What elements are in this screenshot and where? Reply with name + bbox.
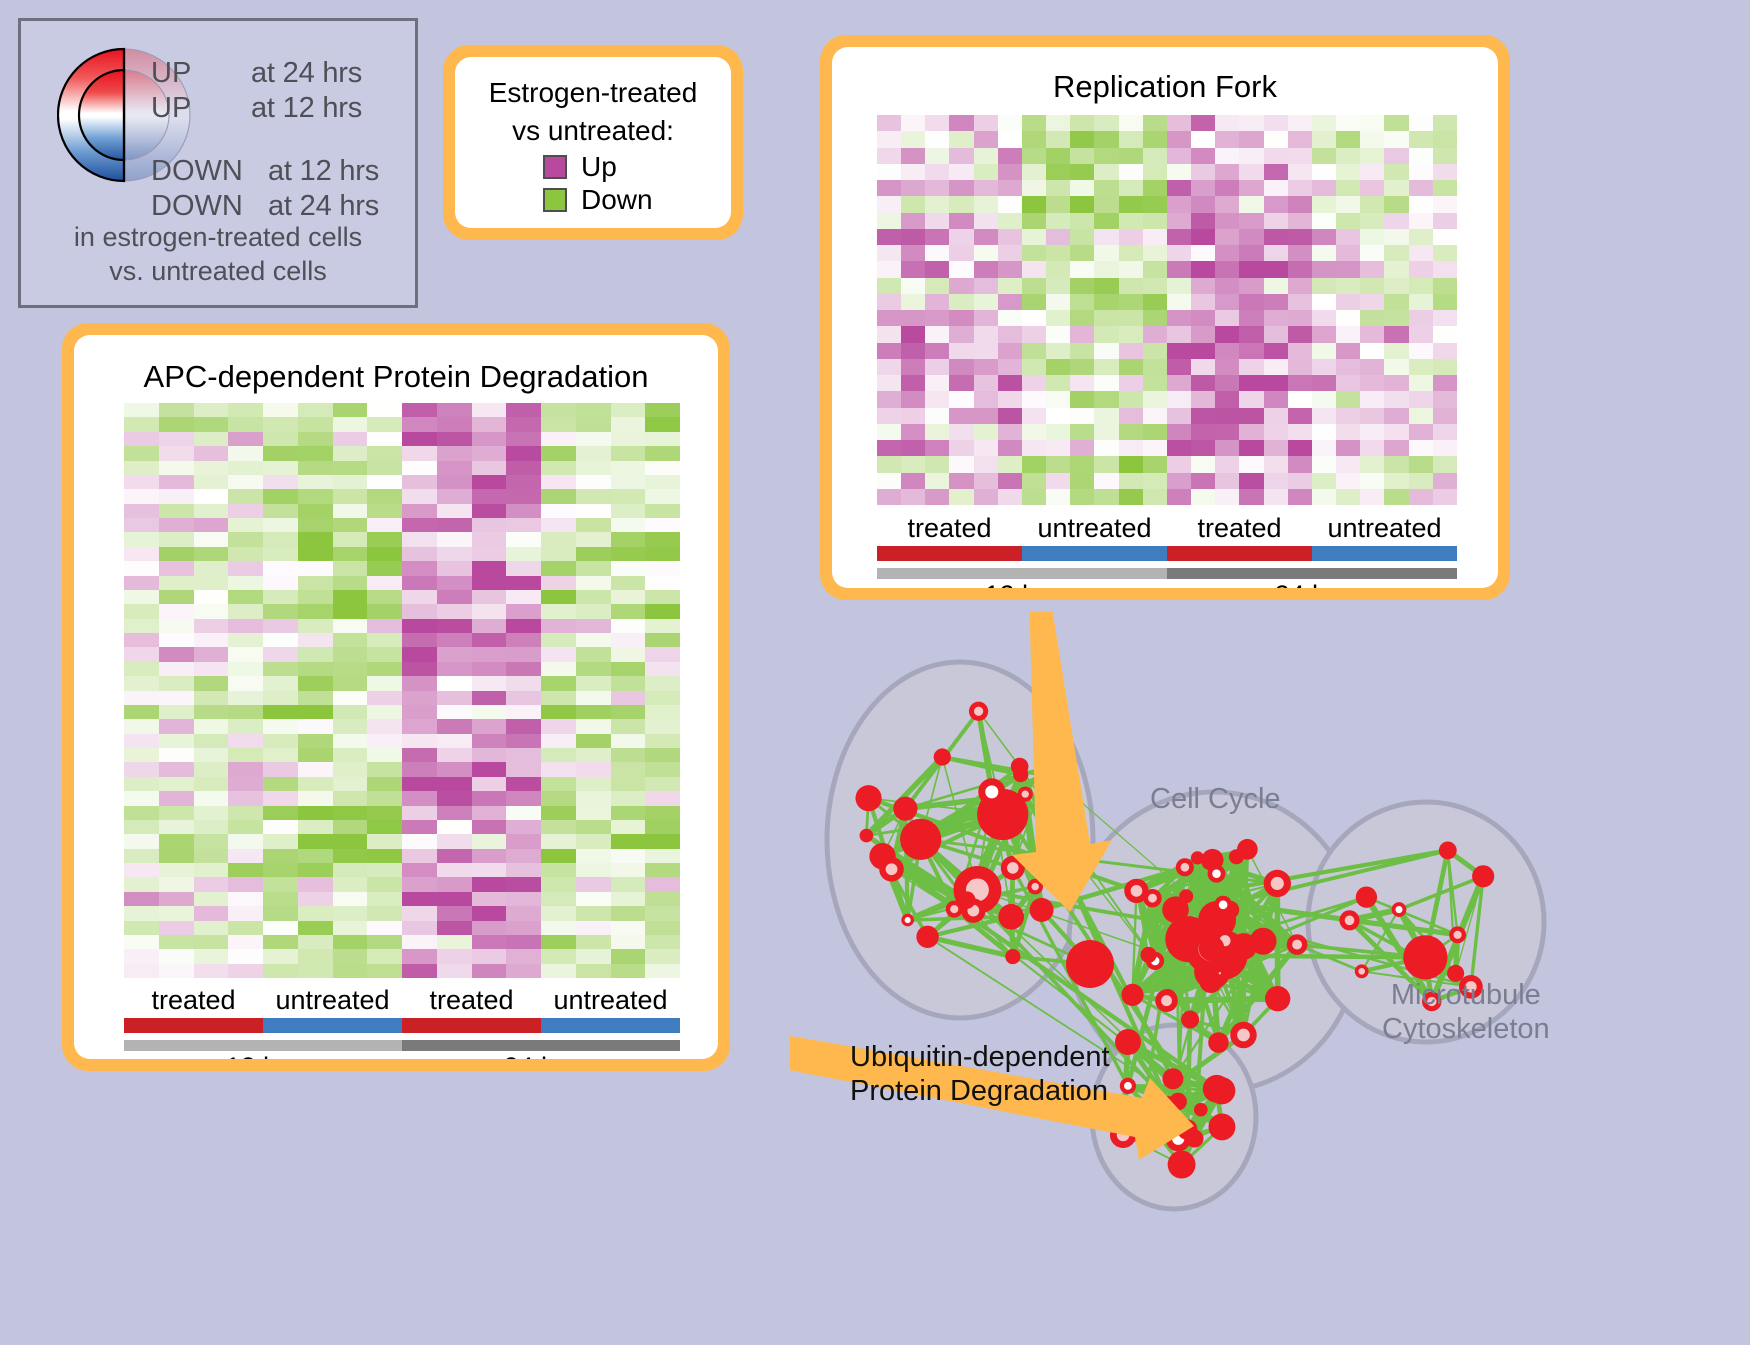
- heatmap-cell: [998, 456, 1022, 472]
- heatmap-cell: [1215, 196, 1239, 212]
- heatmap-cell: [1409, 424, 1433, 440]
- heatmap-cell: [402, 791, 437, 805]
- heatmap-cell: [576, 576, 611, 590]
- heatmap-cell: [1191, 456, 1215, 472]
- heatmap-cell: [541, 432, 576, 446]
- heatmap-cell: [1070, 391, 1094, 407]
- heatmap-cell: [1191, 229, 1215, 245]
- apc-cond-bar-1: [263, 1018, 402, 1033]
- network-node[interactable]: [958, 891, 975, 908]
- heatmap-cell: [1046, 245, 1070, 261]
- heatmap-cell: [437, 921, 472, 935]
- heatmap-cell: [1336, 489, 1360, 505]
- heatmap-cell: [472, 863, 507, 877]
- heatmap-cell: [402, 633, 437, 647]
- network-node[interactable]: [1115, 1029, 1141, 1055]
- heatmap-cell: [333, 935, 368, 949]
- heatmap-cell: [541, 633, 576, 647]
- heatmap-cell: [1239, 375, 1263, 391]
- heatmap-cell: [228, 777, 263, 791]
- heatmap-cell: [472, 906, 507, 920]
- heatmap-cell: [1215, 164, 1239, 180]
- heatmap-cell: [1288, 261, 1312, 277]
- heatmap-cell: [1215, 294, 1239, 310]
- network-node[interactable]: [855, 785, 881, 811]
- heatmap-cell: [925, 440, 949, 456]
- heatmap-cell: [159, 475, 194, 489]
- network-node[interactable]: [1168, 1151, 1196, 1179]
- heatmap-cell: [298, 461, 333, 475]
- heatmap-cell: [1022, 489, 1046, 505]
- heatmap-cell: [1167, 148, 1191, 164]
- heatmap-cell: [298, 547, 333, 561]
- heatmap-cell: [1191, 148, 1215, 164]
- heatmap-cell: [611, 719, 646, 733]
- heatmap-cell: [576, 863, 611, 877]
- network-node[interactable]: [1356, 886, 1377, 907]
- heatmap-cell: [1143, 473, 1167, 489]
- heatmap-cell: [506, 834, 541, 848]
- heatmap-cell: [333, 547, 368, 561]
- heatmap-cell: [1215, 343, 1239, 359]
- heatmap-cell: [1191, 196, 1215, 212]
- network-node[interactable]: [1179, 889, 1193, 903]
- heatmap-cell: [194, 461, 229, 475]
- heatmap-cell: [506, 633, 541, 647]
- heatmap-cell: [974, 245, 998, 261]
- heatmap-cell: [1312, 424, 1336, 440]
- heatmap-cell: [472, 849, 507, 863]
- heatmap-cell: [159, 935, 194, 949]
- heatmap-cell: [437, 906, 472, 920]
- heatmap-cell: [1360, 213, 1384, 229]
- network-node[interactable]: [1155, 989, 1178, 1012]
- heatmap-cell: [228, 403, 263, 417]
- apc-cond-bar-0: [124, 1018, 263, 1033]
- heatmap-cell: [159, 676, 194, 690]
- heatmap-cell: [901, 148, 925, 164]
- heatmap-cell: [877, 326, 901, 342]
- heatmap-cell: [402, 863, 437, 877]
- heatmap-cell: [1143, 278, 1167, 294]
- heatmap-cell: [998, 310, 1022, 326]
- heatmap-cell: [1022, 196, 1046, 212]
- heatmap-cell: [367, 633, 402, 647]
- network-node[interactable]: [879, 857, 904, 882]
- heatmap-cell: [901, 164, 925, 180]
- heatmap-cell: [437, 489, 472, 503]
- heatmap-cell: [298, 877, 333, 891]
- network-node[interactable]: [1124, 879, 1148, 903]
- heatmap-cell: [263, 719, 298, 733]
- heatmap-cell: [437, 590, 472, 604]
- heatmap-cell: [1409, 375, 1433, 391]
- heatmap-cell: [974, 148, 998, 164]
- heatmap-cell: [506, 806, 541, 820]
- heatmap-cell: [1143, 245, 1167, 261]
- heatmap-cell: [506, 432, 541, 446]
- heatmap-cell: [402, 662, 437, 676]
- heatmap-cell: [159, 734, 194, 748]
- heatmap-cell: [1384, 375, 1408, 391]
- heatmap-cell: [367, 748, 402, 762]
- heatmap-cell: [402, 676, 437, 690]
- heatmap-cell: [1167, 456, 1191, 472]
- heatmap-cell: [1239, 213, 1263, 229]
- heatmap-cell: [506, 604, 541, 618]
- heatmap-cell: [1215, 310, 1239, 326]
- heatmap-cell: [541, 935, 576, 949]
- apc-conditions: treated untreated treated untreated 12 h: [124, 985, 680, 1059]
- heatmap-cell: [541, 906, 576, 920]
- heatmap-cell: [124, 691, 159, 705]
- heatmap-cell: [974, 391, 998, 407]
- heatmap-cell: [367, 734, 402, 748]
- network-node[interactable]: [1005, 949, 1020, 964]
- heatmap-cell: [298, 863, 333, 877]
- heatmap-cell: [541, 791, 576, 805]
- heatmap-cell: [472, 949, 507, 963]
- heatmap-cell: [194, 489, 229, 503]
- heatmap-cell: [124, 820, 159, 834]
- heatmap-cell: [1119, 326, 1143, 342]
- heatmap-cell: [1070, 196, 1094, 212]
- heatmap-cell: [472, 719, 507, 733]
- heatmap-cell: [1288, 164, 1312, 180]
- heatmap-cell: [159, 705, 194, 719]
- network-node[interactable]: [1162, 1068, 1183, 1089]
- heatmap-cell: [333, 734, 368, 748]
- heatmap-cell: [1070, 456, 1094, 472]
- key-time-0: at 24 hrs: [251, 57, 362, 90]
- heatmap-cell: [1360, 148, 1384, 164]
- heatmap-cell: [925, 456, 949, 472]
- heatmap-cell: [437, 446, 472, 460]
- network-node[interactable]: [1018, 787, 1033, 802]
- legend-title-line1: Estrogen-treated: [455, 77, 731, 109]
- network-node[interactable]: [1265, 986, 1290, 1011]
- heatmap-cell: [1167, 213, 1191, 229]
- heatmap-cell: [901, 131, 925, 147]
- network-node[interactable]: [1355, 964, 1369, 978]
- heatmap-cell: [228, 949, 263, 963]
- heatmap-cell: [298, 935, 333, 949]
- network-node[interactable]: [1176, 858, 1194, 876]
- network-node[interactable]: [1121, 984, 1143, 1006]
- network-node[interactable]: [1287, 934, 1308, 955]
- network-node[interactable]: [901, 914, 914, 927]
- heatmap-cell: [1336, 294, 1360, 310]
- heatmap-cell: [194, 806, 229, 820]
- heatmap-cell: [1239, 440, 1263, 456]
- heatmap-cell: [1288, 440, 1312, 456]
- network-node[interactable]: [1206, 1076, 1226, 1096]
- heatmap-cell: [194, 906, 229, 920]
- heatmap-cell: [333, 921, 368, 935]
- heatmap-cell: [506, 906, 541, 920]
- heatmap-cell: [472, 518, 507, 532]
- heatmap-cell: [541, 863, 576, 877]
- network-node[interactable]: [1449, 926, 1466, 943]
- heatmap-cell: [1022, 131, 1046, 147]
- heatmap-cell: [402, 705, 437, 719]
- heatmap-cell: [576, 777, 611, 791]
- network-node[interactable]: [1264, 870, 1291, 897]
- heatmap-cell: [159, 576, 194, 590]
- heatmap-cell: [194, 417, 229, 431]
- heatmap-cell: [576, 906, 611, 920]
- network-node[interactable]: [1208, 865, 1226, 883]
- heatmap-cell: [124, 849, 159, 863]
- heatmap-cell: [367, 619, 402, 633]
- heatmap-cell: [263, 561, 298, 575]
- network-node[interactable]: [1229, 849, 1244, 864]
- heatmap-cell: [1384, 408, 1408, 424]
- heatmap-cell: [611, 604, 646, 618]
- network-node[interactable]: [893, 797, 917, 821]
- heatmap-cell: [263, 705, 298, 719]
- heatmap-cell: [506, 777, 541, 791]
- heatmap-cell: [541, 475, 576, 489]
- heatmap-cell: [1360, 164, 1384, 180]
- color-key-box: UP at 24 hrs UP at 12 hrs DOWN at 12 hrs…: [18, 18, 418, 308]
- heatmap-cell: [472, 705, 507, 719]
- heatmap-cell: [541, 489, 576, 503]
- heatmap-cell: [1167, 294, 1191, 310]
- network-node[interactable]: [1230, 933, 1257, 960]
- heatmap-cell: [1215, 440, 1239, 456]
- heatmap-cell: [228, 489, 263, 503]
- heatmap-cell: [437, 705, 472, 719]
- heatmap-cell: [124, 834, 159, 848]
- heatmap-cell: [1336, 326, 1360, 342]
- network-node[interactable]: [916, 926, 938, 948]
- heatmap-cell: [925, 489, 949, 505]
- key-direction-2: DOWN: [151, 155, 243, 188]
- network-node[interactable]: [1140, 947, 1156, 963]
- heatmap-cell: [1360, 294, 1384, 310]
- heatmap-cell: [1409, 261, 1433, 277]
- heatmap-cell: [263, 461, 298, 475]
- heatmap-cell: [437, 849, 472, 863]
- heatmap-cell: [402, 964, 437, 978]
- heatmap-cell: [228, 504, 263, 518]
- heatmap-cell: [974, 213, 998, 229]
- heatmap-cell: [333, 561, 368, 575]
- heatmap-cell: [159, 791, 194, 805]
- heatmap-cell: [1167, 310, 1191, 326]
- network-node[interactable]: [978, 778, 1005, 805]
- heatmap-cell: [367, 532, 402, 546]
- heatmap-cell: [645, 676, 680, 690]
- heatmap-cell: [974, 261, 998, 277]
- network-node[interactable]: [1439, 841, 1457, 859]
- heatmap-cell: [1288, 424, 1312, 440]
- heatmap-cell: [645, 863, 680, 877]
- network-node[interactable]: [1208, 1113, 1235, 1140]
- heatmap-cell: [974, 456, 998, 472]
- heatmap-cell: [611, 576, 646, 590]
- heatmap-cell: [194, 676, 229, 690]
- heatmap-cell: [367, 719, 402, 733]
- network-node[interactable]: [998, 904, 1024, 930]
- heatmap-cell: [1239, 408, 1263, 424]
- network-node[interactable]: [1030, 898, 1054, 922]
- heatmap-cell: [611, 877, 646, 891]
- heatmap-cell: [228, 877, 263, 891]
- heatmap-cell: [1336, 261, 1360, 277]
- heatmap-cell: [437, 719, 472, 733]
- heatmap-cell: [1360, 359, 1384, 375]
- heatmap-cell: [263, 403, 298, 417]
- heatmap-cell: [1046, 148, 1070, 164]
- heatmap-cell: [611, 748, 646, 762]
- heatmap-cell: [541, 647, 576, 661]
- network-node[interactable]: [1230, 1022, 1257, 1049]
- legend-item-down: Down: [543, 184, 731, 216]
- heatmap-cell: [228, 964, 263, 978]
- heatmap-cell: [194, 935, 229, 949]
- network-node[interactable]: [900, 819, 941, 860]
- heatmap-cell: [645, 691, 680, 705]
- network-node[interactable]: [1472, 865, 1494, 887]
- heatmap-cell: [506, 719, 541, 733]
- heatmap-cell: [228, 633, 263, 647]
- heatmap-cell: [1167, 343, 1191, 359]
- network-node[interactable]: [1066, 940, 1114, 988]
- heatmap-cell: [1288, 115, 1312, 131]
- heatmap-cell: [998, 489, 1022, 505]
- rf-time-1: 24 hrs: [1167, 580, 1457, 588]
- network-node[interactable]: [1191, 851, 1204, 864]
- heatmap-cell: [1409, 408, 1433, 424]
- heatmap-cell: [1384, 440, 1408, 456]
- network-node[interactable]: [1208, 1032, 1229, 1053]
- heatmap-cell: [194, 748, 229, 762]
- heatmap-cell: [877, 473, 901, 489]
- heatmap-cell: [228, 791, 263, 805]
- heatmap-cell: [877, 196, 901, 212]
- heatmap-cell: [1312, 294, 1336, 310]
- legend-swatch-down: [543, 188, 567, 212]
- heatmap-cell: [228, 432, 263, 446]
- heatmap-cell: [1167, 261, 1191, 277]
- heatmap-cell: [506, 619, 541, 633]
- heatmap-cell: [263, 921, 298, 935]
- heatmap-cell: [367, 489, 402, 503]
- key-footer-line2: vs. untreated cells: [21, 255, 415, 289]
- heatmap-cell: [367, 849, 402, 863]
- heatmap-cell: [925, 164, 949, 180]
- apc-cond-0: treated: [124, 985, 263, 1016]
- heatmap-cell: [1094, 213, 1118, 229]
- heatmap-cell: [472, 691, 507, 705]
- network-node[interactable]: [969, 702, 988, 721]
- heatmap-cell: [402, 403, 437, 417]
- heatmap-cell: [877, 310, 901, 326]
- heatmap-cell: [228, 906, 263, 920]
- heatmap-cell: [472, 489, 507, 503]
- apc-cond-3: untreated: [541, 985, 680, 1016]
- key-time-2: at 12 hrs: [268, 155, 379, 188]
- apc-time-bar: [124, 1040, 680, 1051]
- network-node[interactable]: [1339, 910, 1359, 930]
- heatmap-cell: [576, 676, 611, 690]
- heatmap-cell: [1215, 245, 1239, 261]
- network-node[interactable]: [1403, 935, 1447, 979]
- heatmap-cell: [1046, 180, 1070, 196]
- network-node[interactable]: [1181, 1011, 1199, 1029]
- network-node[interactable]: [860, 829, 874, 843]
- heatmap-cell: [1070, 115, 1094, 131]
- heatmap-cell: [263, 849, 298, 863]
- heatmap-cell: [263, 734, 298, 748]
- heatmap-cell: [1046, 424, 1070, 440]
- heatmap-cell: [506, 561, 541, 575]
- network-node[interactable]: [1199, 970, 1222, 993]
- heatmap-cell: [611, 849, 646, 863]
- heatmap-cell: [645, 576, 680, 590]
- network-node[interactable]: [934, 748, 951, 765]
- heatmap-cell: [1264, 391, 1288, 407]
- heatmap-cell: [298, 532, 333, 546]
- heatmap-cell: [1119, 408, 1143, 424]
- heatmap-cell: [1046, 196, 1070, 212]
- network-node[interactable]: [1194, 1103, 1208, 1117]
- heatmap-cell: [1191, 245, 1215, 261]
- heatmap-cell: [1264, 294, 1288, 310]
- heatmap-cell: [611, 475, 646, 489]
- heatmap-cell: [1119, 278, 1143, 294]
- heatmap-cell: [1336, 164, 1360, 180]
- heatmap-cell: [541, 719, 576, 733]
- heatmap-cell: [228, 446, 263, 460]
- heatmap-cell: [1288, 310, 1312, 326]
- heatmap-cell: [506, 518, 541, 532]
- rf-time-0: 12 hrs: [877, 580, 1167, 588]
- network-node[interactable]: [1392, 902, 1407, 917]
- heatmap-cell: [541, 691, 576, 705]
- heatmap-cell: [901, 326, 925, 342]
- heatmap-cell: [974, 408, 998, 424]
- heatmap-cell: [506, 489, 541, 503]
- network-node[interactable]: [1199, 936, 1225, 962]
- network-node[interactable]: [1013, 767, 1028, 782]
- heatmap-cell: [1046, 391, 1070, 407]
- heatmap-cell: [1264, 148, 1288, 164]
- heatmap-cell: [263, 647, 298, 661]
- heatmap-cell: [1433, 473, 1457, 489]
- heatmap-cell: [1094, 408, 1118, 424]
- heatmap-cell: [1046, 294, 1070, 310]
- heatmap-cell: [1191, 310, 1215, 326]
- heatmap-cell: [263, 877, 298, 891]
- rf-time-bar-0: [877, 568, 1167, 579]
- heatmap-cell: [541, 748, 576, 762]
- heatmap-cell: [367, 676, 402, 690]
- network-node[interactable]: [1214, 896, 1232, 914]
- heatmap-cell: [159, 461, 194, 475]
- heatmap-cell: [949, 180, 973, 196]
- heatmap-cell: [1046, 131, 1070, 147]
- network-node[interactable]: [1120, 1078, 1136, 1094]
- heatmap-cell: [298, 432, 333, 446]
- heatmap-cell: [1215, 326, 1239, 342]
- heatmap-cell: [1336, 391, 1360, 407]
- heatmap-cell: [1264, 440, 1288, 456]
- heatmap-cell: [1046, 115, 1070, 131]
- heatmap-cell: [298, 619, 333, 633]
